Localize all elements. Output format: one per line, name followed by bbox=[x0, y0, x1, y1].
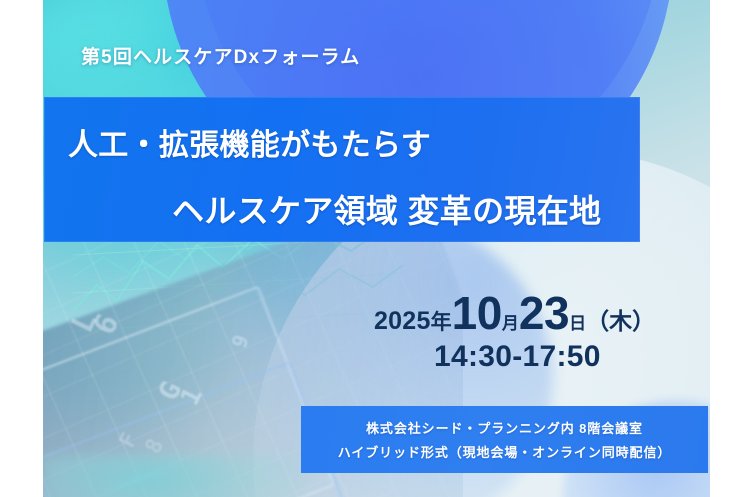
date-day-unit: 日 bbox=[569, 309, 586, 334]
venue-format: ハイブリッド形式（現地会場・オンライン同時配信） bbox=[338, 442, 672, 461]
venue-banner: 株式会社シード・プランニング内 8階会議室 ハイブリッド形式（現地会場・オンライ… bbox=[301, 406, 708, 473]
event-date: 2025 年 10 月 23 日 （木） bbox=[374, 286, 655, 340]
bottom-left-teal-glow bbox=[43, 455, 303, 497]
event-series-kicker: 第5回ヘルスケアDxフォーラム bbox=[81, 42, 360, 69]
page-title-line-1: 人工・拡張機能がもたらす bbox=[68, 120, 431, 164]
date-day: 23 bbox=[519, 286, 569, 340]
date-month: 10 bbox=[452, 286, 502, 340]
date-weekday: （木） bbox=[586, 302, 655, 336]
title-banner: 人工・拡張機能がもたらす ヘルスケア領域 変革の現在地 bbox=[44, 97, 640, 242]
event-poster: L 6 G 1 9 F 8 第5回ヘルスケアDxフォーラム 人工・拡張機能がもた… bbox=[0, 0, 745, 497]
venue-location: 株式会社シード・プランニング内 8階会議室 bbox=[366, 418, 643, 437]
page-title-line-2: ヘルスケア領域 変革の現在地 bbox=[172, 186, 601, 232]
date-year: 2025 bbox=[374, 307, 431, 336]
date-month-unit: 月 bbox=[502, 309, 519, 334]
date-year-unit: 年 bbox=[431, 306, 452, 336]
event-time: 14:30-17:50 bbox=[434, 340, 601, 374]
